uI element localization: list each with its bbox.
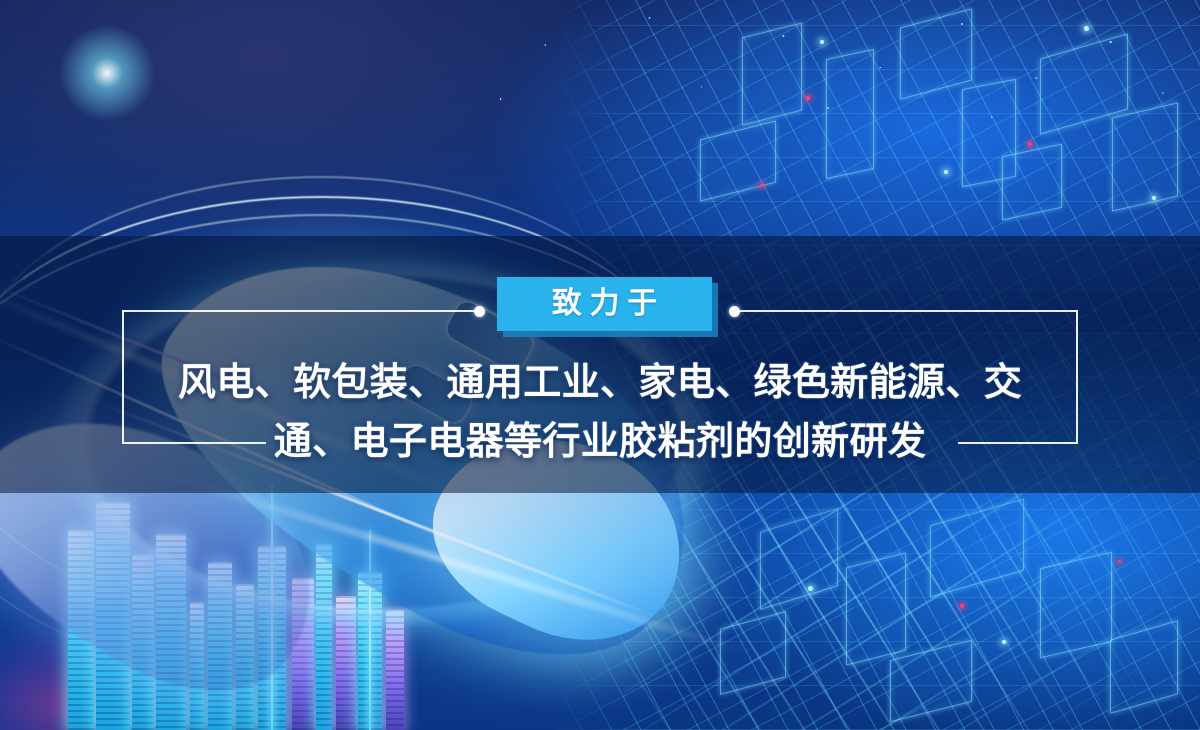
headline-line-1: 风电、软包装、通用工业、家电、绿色新能源、交 [178,359,1022,404]
frame-dot-left [474,306,485,317]
banner-content: 致力于 风电、软包装、通用工业、家电、绿色新能源、交 通、电子电器等行业胶粘剂的… [0,0,1200,730]
headline-block: 风电、软包装、通用工业、家电、绿色新能源、交 通、电子电器等行业胶粘剂的创新研发 [0,352,1200,470]
badge-label: 致力于 [544,289,665,319]
banner-root: 致力于 风电、软包装、通用工业、家电、绿色新能源、交 通、电子电器等行业胶粘剂的… [0,0,1200,730]
frame-dot-right [729,306,740,317]
headline-badge: 致力于 [497,277,712,331]
frame-border-top-left [122,310,480,312]
frame-border-top-right [734,310,1078,312]
headline-line-2: 通、电子电器等行业胶粘剂的创新研发 [0,411,1200,470]
